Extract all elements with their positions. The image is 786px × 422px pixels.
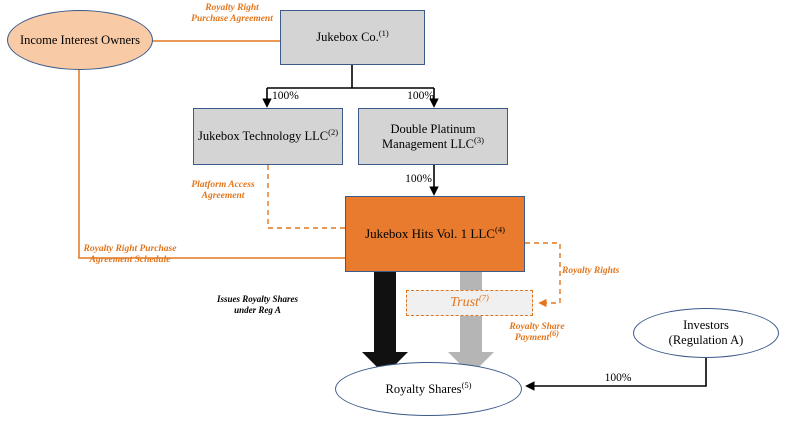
label-royalty-rights: Royalty Rights xyxy=(562,266,646,277)
node-income-interest-owners[interactable]: Income Interest Owners xyxy=(7,10,153,70)
label-royalty-right-purchase-agreement-schedule-line1: Royalty Right Purchase xyxy=(60,244,200,255)
node-trust-text: Trust(7) xyxy=(450,295,489,312)
node-jukebox-technology-label: Jukebox Technology LLC xyxy=(198,129,328,143)
node-jukebox-technology[interactable]: Jukebox Technology LLC(2) xyxy=(193,108,343,165)
label-royalty-share-payment-line1: Royalty Share xyxy=(489,322,585,333)
label-royalty-share-payment-line2-wrap: Payment(6) xyxy=(489,333,585,345)
node-jukebox-hits-label: Jukebox Hits Vol. 1 LLC xyxy=(365,226,495,241)
label-platform-access-agreement: Platform Access Agreement xyxy=(175,180,271,203)
node-investors[interactable]: Investors (Regulation A) xyxy=(633,308,779,358)
node-royalty-shares-note: (5) xyxy=(462,379,472,389)
label-platform-access-agreement-line1: Platform Access xyxy=(175,180,271,191)
node-double-platinum-label: Double Platinum Management LLC xyxy=(382,122,476,151)
label-royalty-share-payment-line2: Payment xyxy=(515,334,549,344)
node-investors-line2: (Regulation A) xyxy=(669,333,744,347)
label-pct-jukebox-hits: 100% xyxy=(388,173,432,187)
diagram-canvas: Income Interest Owners Jukebox Co.(1) Ju… xyxy=(0,0,786,422)
label-royalty-share-payment: Royalty Share Payment(6) xyxy=(489,322,585,345)
node-double-platinum-text: Double Platinum Management LLC(3) xyxy=(359,122,507,152)
label-issues-royalty-shares-line1: Issues Royalty Shares xyxy=(180,294,335,305)
label-royalty-right-purchase-agreement-schedule: Royalty Right Purchase Agreement Schedul… xyxy=(60,244,200,267)
node-trust-label: Trust xyxy=(450,295,479,310)
node-jukebox-co-text: Jukebox Co.(1) xyxy=(316,30,388,45)
label-royalty-right-purchase-agreement-schedule-line2: Agreement Schedule xyxy=(60,255,200,266)
node-royalty-shares-text: Royalty Shares(5) xyxy=(386,382,472,397)
label-platform-access-agreement-line2: Agreement xyxy=(175,191,271,202)
node-trust[interactable]: Trust(7) xyxy=(406,290,533,316)
label-royalty-share-payment-note: (6) xyxy=(549,328,559,338)
label-pct-investors: 100% xyxy=(596,372,640,386)
node-investors-line1: Investors xyxy=(683,318,729,332)
node-jukebox-technology-note: (2) xyxy=(328,127,338,137)
node-jukebox-co-note: (1) xyxy=(379,28,389,38)
label-royalty-right-purchase-agreement: Royalty Right Purchase Agreement xyxy=(157,3,307,26)
node-jukebox-technology-text: Jukebox Technology LLC(2) xyxy=(198,129,338,144)
node-royalty-shares-label: Royalty Shares xyxy=(386,382,462,396)
node-trust-note: (7) xyxy=(479,292,489,302)
label-royalty-right-purchase-agreement-line2: Purchase Agreement xyxy=(157,14,307,25)
label-royalty-right-purchase-agreement-line1: Royalty Right xyxy=(157,3,307,14)
node-jukebox-co-label: Jukebox Co. xyxy=(316,30,379,44)
node-double-platinum[interactable]: Double Platinum Management LLC(3) xyxy=(358,108,508,165)
node-investors-text: Investors (Regulation A) xyxy=(669,318,744,348)
node-double-platinum-note: (3) xyxy=(474,134,484,144)
label-pct-double-platinum: 100% xyxy=(390,90,434,104)
node-income-interest-owners-label: Income Interest Owners xyxy=(20,33,140,48)
node-jukebox-hits-note: (4) xyxy=(495,225,505,235)
label-issues-royalty-shares-line2: under Reg A xyxy=(180,305,335,316)
node-jukebox-hits-text: Jukebox Hits Vol. 1 LLC(4) xyxy=(365,226,505,241)
node-royalty-shares[interactable]: Royalty Shares(5) xyxy=(335,362,522,416)
label-pct-jukebox-technology: 100% xyxy=(272,90,316,104)
label-issues-royalty-shares: Issues Royalty Shares under Reg A xyxy=(180,294,335,316)
node-jukebox-hits[interactable]: Jukebox Hits Vol. 1 LLC(4) xyxy=(345,196,525,272)
